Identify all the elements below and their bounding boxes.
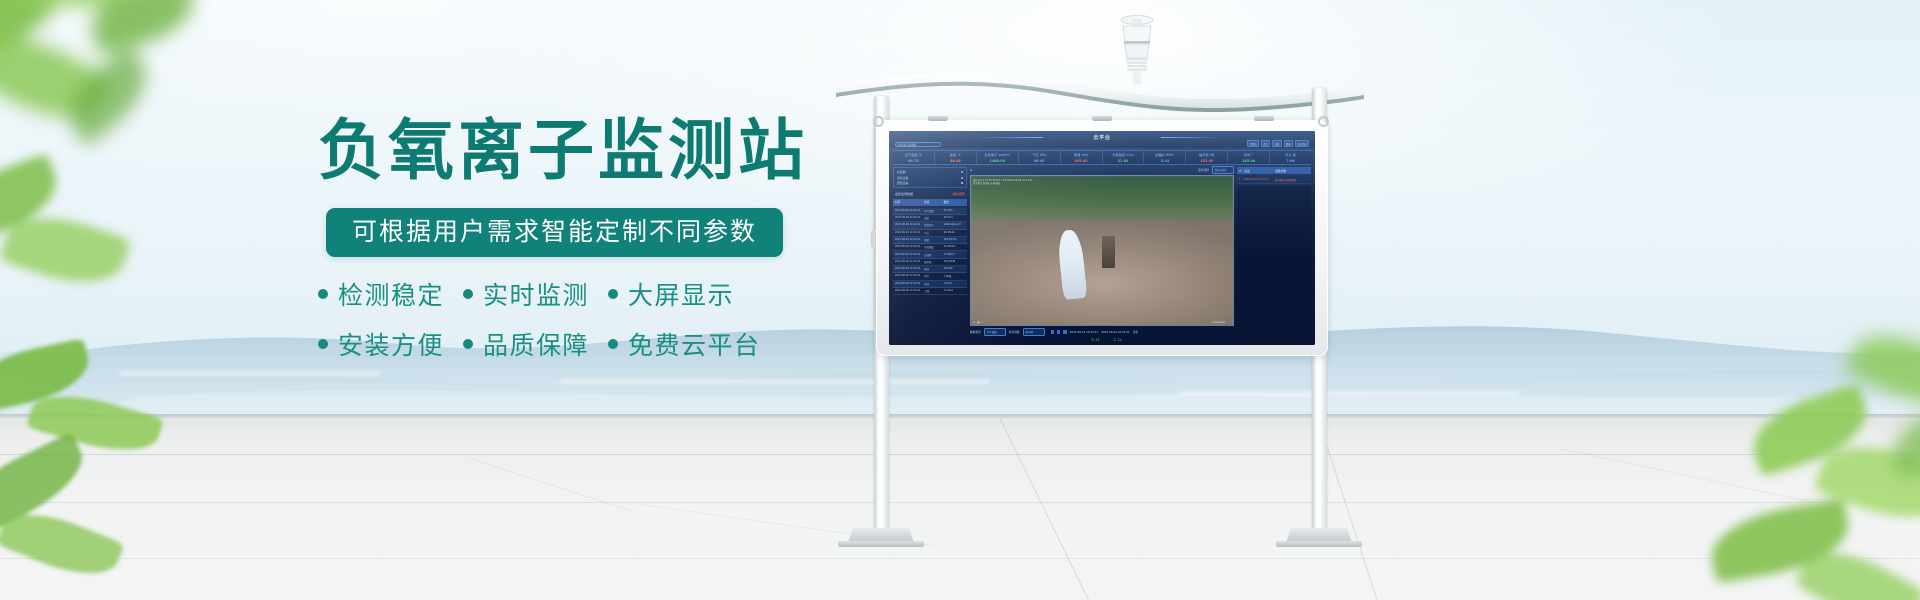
kpi-strip: 空气湿度 % 64.70 温度 ℃ 28.34 负氧离子 pcs/m³ 1460… xyxy=(893,150,1311,165)
alarm-col-index: # xyxy=(1239,169,1241,173)
table-row[interactable]: 2022-06-20 10:14:41负氧离子1460.00pcs/m³ xyxy=(893,222,967,229)
chart-table-icon[interactable] xyxy=(1063,330,1066,334)
cell-time: 2022-06-20 10:14:41 xyxy=(895,231,924,235)
cell-value: 405.60mm xyxy=(944,238,965,242)
kpi-label: 负氧离子 pcs/m³ xyxy=(977,152,1018,157)
feature-label: 检测稳定 xyxy=(338,276,444,312)
feature-item-easy-install: 安装方便 xyxy=(318,326,463,362)
play-icon[interactable]: ⊙ xyxy=(973,321,975,324)
cell-value: 153.00dB xyxy=(944,260,965,264)
kpi-label: 风向 ° xyxy=(1228,152,1269,157)
feature-item-realtime-monitoring: 实时监测 xyxy=(463,276,608,312)
column-header-element: 要素 xyxy=(924,200,943,204)
live-camera-feed[interactable]: 监控点位1 25.25°N/114.11°E 2022-06-20 10:14:… xyxy=(970,175,1234,326)
video-controls[interactable]: ⊙ ▣ ⛶ xyxy=(973,321,983,324)
stat-offline: 离线设备 2 xyxy=(897,176,963,180)
cell-element: 土壤 xyxy=(924,289,943,293)
page-title: 负氧离子监测站 xyxy=(318,118,808,184)
chart-bar-icon[interactable] xyxy=(1051,330,1054,334)
site-selector-dropdown[interactable]: 负氧离子监测站 xyxy=(895,142,941,147)
video-brand-label: Camera01 xyxy=(1213,321,1225,324)
alarm-row[interactable]: 12022-06-20 10:14:41噪声值超过阈值报警 xyxy=(1237,176,1311,184)
user-chip[interactable]: 设备 xyxy=(1272,140,1281,147)
feature-label: 实时监测 xyxy=(483,276,589,312)
cell-element: 雨量 xyxy=(924,238,943,242)
video-treeline xyxy=(971,176,1233,221)
kpi-value: 28.34 xyxy=(935,159,976,163)
kpi-illuminance: 光照强度 klux 21.00 xyxy=(1103,151,1145,164)
kpi-label: 噪声值 dB xyxy=(1186,152,1227,157)
feature-item-quality-assurance: 品质保障 xyxy=(463,326,608,362)
kpi-value: 1460.00 xyxy=(977,159,1018,163)
post-plate-left xyxy=(838,541,924,547)
stat-value: 2 xyxy=(961,176,963,180)
table-row[interactable]: 2022-06-20 10:14:41空气湿度64.70% xyxy=(893,208,967,215)
range-end-input[interactable]: 2022-06-20 10:14:41 xyxy=(1101,330,1130,334)
dashboard-center-panel: ◈ 监控选择 监控点位1 监控点位1 25.25°N/114.11°E 2022… xyxy=(970,167,1234,342)
cell-time: 2022-06-20 10:14:41 xyxy=(895,253,924,257)
cell-element: 风力 xyxy=(924,274,943,278)
cell-time: 2022-06-20 10:14:41 xyxy=(895,282,924,286)
kpi-pressure: 气压 kPa 98.45 xyxy=(1019,151,1061,164)
bullet-dot-icon xyxy=(318,289,328,299)
kpi-value: 405.60 xyxy=(1061,159,1102,163)
kpi-temperature: 温度 ℃ 28.34 xyxy=(935,151,977,164)
alarm-col-content: 报警内容 xyxy=(1275,169,1309,173)
kpi-value: 5.44 xyxy=(1144,159,1185,163)
stat-value: 2 xyxy=(961,170,963,174)
lcd-screen[interactable]: 云平台 负氧离子监测站 管理员 首页 设备 数据 退出登录 空气湿度 % 64.… xyxy=(889,131,1315,345)
cell-value: 28.34℃ xyxy=(944,216,965,220)
kpi-label: 气压 kPa xyxy=(1019,152,1060,157)
kpi-negative-ions: 负氧离子 pcs/m³ 1460.00 xyxy=(977,151,1019,164)
chart-interval-dropdown[interactable]: 按小时 xyxy=(1023,328,1045,336)
video-field-device xyxy=(1102,236,1115,269)
cell-element: 风速 xyxy=(924,282,943,286)
range-start-input[interactable]: 2022-06-19 10:14:41 xyxy=(1070,330,1099,334)
cell-time: 2022-06-20 10:14:41 xyxy=(895,223,924,227)
kpi-humidity: 空气湿度 % 64.70 xyxy=(893,151,935,164)
cell-value: 21.00klux xyxy=(944,245,965,249)
feature-label: 免费云平台 xyxy=(628,326,761,362)
feature-item-large-screen: 大屏显示 xyxy=(608,276,734,312)
post-base-right xyxy=(1286,528,1352,542)
hero-copy: 负氧离子监测站 可根据用户需求智能定制不同参数 检测稳定 实时监测 大屏显示 xyxy=(0,0,960,600)
cell-element: 气压 xyxy=(924,231,943,235)
export-button[interactable]: 导出 xyxy=(1133,330,1138,334)
kpi-rainfall: 雨量 mm 405.60 xyxy=(1061,151,1103,164)
post-plate-right xyxy=(1276,541,1362,547)
cell-element: 负氧离子 xyxy=(924,223,943,227)
column-header-value: 数值 xyxy=(944,200,965,204)
alarm-index: 1 xyxy=(1239,178,1241,182)
hinge-ring-right xyxy=(1318,116,1329,127)
stat-online: 在线数 2 xyxy=(897,170,963,174)
stat-value: 0 xyxy=(961,181,963,185)
feature-item-detection-stable: 检测稳定 xyxy=(318,276,463,312)
cell-value: 1460.00pcs/m³ xyxy=(944,223,965,227)
chart-readout-value: 2.21 xyxy=(1114,338,1122,342)
fullscreen-icon[interactable]: ⛶ xyxy=(982,321,984,324)
banner-root: 负氧离子监测站 可根据用户需求智能定制不同参数 检测稳定 实时监测 大屏显示 xyxy=(0,0,1920,600)
cell-element: 温度 xyxy=(924,216,943,220)
video-caption: 负氧离子监测站 实时画面 xyxy=(973,181,1000,185)
kpi-label: 总辐射 W/m² xyxy=(1144,152,1185,157)
table-row[interactable]: 2022-06-20 10:14:41噪声值153.00dB xyxy=(893,259,967,266)
kpi-value: 153.00 xyxy=(1186,159,1227,163)
video-subject xyxy=(1057,229,1088,300)
dashboard-body: 在线数 2 离线设备 2 报警设备 0 xyxy=(893,167,1311,342)
cell-value: 185.00° xyxy=(944,267,965,271)
kpi-value: 7.06 xyxy=(1270,159,1311,163)
camera-toolbar: ◈ 监控选择 监控点位1 xyxy=(970,167,1234,173)
alarm-device: 2022-06-20 10:14:41 xyxy=(1244,178,1272,182)
chart-type-dropdown[interactable]: 空气湿度 xyxy=(984,328,1006,336)
snapshot-icon[interactable]: ▣ xyxy=(977,321,979,324)
table-row[interactable]: 2022-06-20 10:14:41气压98.45kPa xyxy=(893,230,967,237)
cell-time: 2022-06-20 10:14:41 xyxy=(895,245,924,249)
kpi-label: 风力 级 xyxy=(1270,152,1311,157)
kpi-wind-force: 风力 级 7.06 xyxy=(1270,151,1311,164)
kpi-radiation: 总辐射 W/m² 5.44 xyxy=(1144,151,1186,164)
cell-element: 噪声值 xyxy=(924,260,943,264)
kpi-value: 64.70 xyxy=(893,159,934,163)
cell-time: 2022-06-20 10:14:41 xyxy=(895,274,924,278)
table-row[interactable]: 2022-06-20 10:14:41雨量405.60mm xyxy=(893,237,967,244)
mount-clip xyxy=(1254,116,1274,121)
kpi-label: 空气湿度 % xyxy=(893,152,934,157)
cell-value: 5.44W/m² xyxy=(944,253,965,257)
latest-data-heading: 最新监测数据 超标报警 xyxy=(893,191,967,197)
cell-element: 空气湿度 xyxy=(924,209,943,213)
data-table-body[interactable]: 2022-06-20 10:14:41空气湿度64.70%2022-06-20 … xyxy=(893,208,967,295)
kpi-value: 21.00 xyxy=(1103,159,1144,163)
cell-value: 64.70% xyxy=(944,209,965,213)
table-row[interactable]: 2022-06-20 10:14:41风向185.00° xyxy=(893,266,967,273)
stat-label: 离线设备 xyxy=(897,176,909,180)
device-stats-card: 在线数 2 离线设备 2 报警设备 0 xyxy=(893,167,967,188)
stat-label: 报警设备 xyxy=(897,181,909,185)
cell-time: 2022-06-20 10:14:41 xyxy=(895,216,924,220)
kpi-noise: 噪声值 dB 153.00 xyxy=(1186,151,1228,164)
column-header-time: 时间 xyxy=(895,200,924,204)
mount-clip xyxy=(928,116,948,121)
cell-time: 2022-06-20 10:14:41 xyxy=(895,267,924,271)
kpi-wind-direction: 风向 ° 185.00 xyxy=(1228,151,1270,164)
monitoring-station: 云平台 负氧离子监测站 管理员 首页 设备 数据 退出登录 空气湿度 % 64.… xyxy=(830,0,1370,600)
bullet-dot-icon xyxy=(463,339,473,349)
chart-interval-label: 时间间隔 xyxy=(1009,330,1020,334)
table-row[interactable]: 2022-06-20 10:14:41光照强度21.00klux xyxy=(893,244,967,251)
camera-selector-label: 监控选择 xyxy=(1198,168,1209,172)
alarm-empty-space xyxy=(1237,186,1311,342)
user-chip[interactable]: 数据 xyxy=(1284,140,1293,147)
table-row[interactable]: 2022-06-20 10:14:41风速1.6m/s xyxy=(893,281,967,288)
cell-element: 光照强度 xyxy=(924,245,943,249)
cell-value: 71.00ss xyxy=(944,289,965,293)
feature-row-2: 安装方便 品质保障 免费云平台 xyxy=(318,326,761,362)
feature-item-free-cloud: 免费云平台 xyxy=(608,326,761,362)
feature-label: 大屏显示 xyxy=(628,276,734,312)
threshold-alert-label: 超标报警 xyxy=(953,192,965,196)
logout-button[interactable]: 退出登录 xyxy=(1295,140,1309,147)
alarm-table-body[interactable]: 12022-06-20 10:14:41噪声值超过阈值报警 xyxy=(1237,176,1311,184)
kpi-value: 185.00 xyxy=(1228,159,1269,163)
stat-alarm: 报警设备 0 xyxy=(897,181,963,185)
kpi-label: 光照强度 klux xyxy=(1103,152,1144,157)
chart-type-label: 数据类型 xyxy=(970,330,981,334)
display-enclosure: 云平台 负氧离子监测站 管理员 首页 设备 数据 退出登录 空气湿度 % 64.… xyxy=(876,120,1328,356)
cell-time: 2022-06-20 10:14:41 xyxy=(895,260,924,264)
dashboard-user-menu[interactable]: 管理员 首页 设备 数据 退出登录 xyxy=(1247,140,1309,147)
user-chip[interactable]: 首页 xyxy=(1261,140,1270,147)
table-row[interactable]: 2022-06-20 10:14:41土壤71.00ss xyxy=(893,288,967,295)
mount-clip xyxy=(1092,116,1112,121)
kpi-label: 温度 ℃ xyxy=(935,152,976,157)
cloud-platform-dashboard: 云平台 负氧离子监测站 管理员 首页 设备 数据 退出登录 空气湿度 % 64.… xyxy=(889,131,1315,345)
kpi-value: 98.45 xyxy=(1019,159,1060,163)
table-row[interactable]: 2022-06-20 10:14:41风力7.06级 xyxy=(893,273,967,280)
alarm-content: 噪声值超过阈值报警 xyxy=(1275,178,1309,182)
post-base-left xyxy=(848,528,914,542)
dashboard-right-panel: # 设备 报警内容 12022-06-20 10:14:41噪声值超过阈值报警 xyxy=(1237,167,1311,342)
bullet-dot-icon xyxy=(608,289,618,299)
table-heading: 最新监测数据 xyxy=(895,192,913,196)
bullet-dot-icon xyxy=(608,339,618,349)
cell-element: 总辐射 xyxy=(924,253,943,257)
chart-readout-value: 9.21 xyxy=(1091,338,1099,342)
cell-value: 7.06级 xyxy=(944,274,965,278)
feature-label: 品质保障 xyxy=(483,326,589,362)
chart-toolbar: 数据类型 空气湿度 时间间隔 按小时 2022-06-19 10:14:41 2… xyxy=(970,328,1234,336)
table-row[interactable]: 2022-06-20 10:14:41总辐射5.44W/m² xyxy=(893,251,967,258)
user-chip[interactable]: 管理员 xyxy=(1247,140,1259,147)
hinge-ring-left xyxy=(873,116,884,127)
kpi-label: 雨量 mm xyxy=(1061,152,1102,157)
cell-element: 风向 xyxy=(924,267,943,271)
bullet-dot-icon xyxy=(463,289,473,299)
cell-time: 2022-06-20 10:14:41 xyxy=(895,238,924,242)
alarm-header-row: # 设备 报警内容 xyxy=(1237,167,1311,174)
feature-list: 检测稳定 实时监测 大屏显示 安装方便 品质保障 xyxy=(318,276,761,362)
camera-selector-dropdown[interactable]: 监控点位1 xyxy=(1212,166,1234,174)
table-header-row: 时间 要素 数值 xyxy=(893,199,967,206)
bullet-dot-icon xyxy=(318,339,328,349)
stat-label: 在线数 xyxy=(897,170,906,174)
feature-row-1: 检测稳定 实时监测 大屏显示 xyxy=(318,276,761,312)
cell-value: 98.45kPa xyxy=(944,231,965,235)
cell-time: 2022-06-20 10:14:41 xyxy=(895,209,924,213)
cell-time: 2022-06-20 10:14:41 xyxy=(895,289,924,293)
cell-value: 1.6m/s xyxy=(944,282,965,286)
subtitle-badge: 可根据用户需求智能定制不同参数 xyxy=(326,208,783,257)
feature-label: 安装方便 xyxy=(338,326,444,362)
table-row[interactable]: 2022-06-20 10:14:41温度28.34℃ xyxy=(893,215,967,222)
camera-icon: ◈ xyxy=(970,168,972,172)
alarm-col-device: 设备 xyxy=(1244,169,1272,173)
dashboard-left-panel: 在线数 2 离线设备 2 报警设备 0 xyxy=(893,167,967,342)
chart-line-icon[interactable] xyxy=(1057,330,1060,334)
